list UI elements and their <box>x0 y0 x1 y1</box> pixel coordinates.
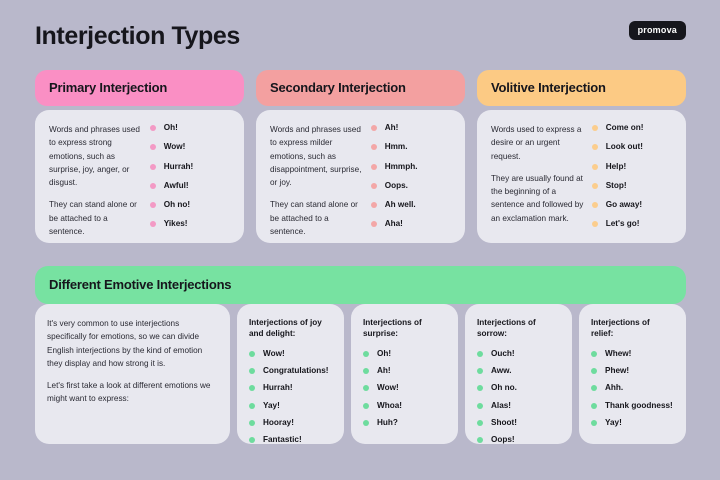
list-item: Thank goodness! <box>591 401 674 411</box>
card-surprise: Interjections of surprise: Oh! Ah! Wow! … <box>351 304 458 444</box>
card-joy-and-delight: Interjections of joy and delight: Wow! C… <box>237 304 344 444</box>
paragraph: Words used to express a desire or an urg… <box>491 123 586 163</box>
examples-volitive: Come on! Look out! Help! Stop! Go away! … <box>592 123 672 229</box>
list-item: Congratulations! <box>249 366 332 376</box>
example-list: Ouch! Aww. Oh no. Alas! Shoot! Oops! <box>477 349 560 446</box>
list-item: Oops. <box>371 181 451 191</box>
card-sorrow: Interjections of sorrow: Ouch! Aww. Oh n… <box>465 304 572 444</box>
list-item: Hmm. <box>371 142 451 152</box>
card-emotive-intro: It's very common to use interjections sp… <box>35 304 230 444</box>
card-header-secondary: Secondary Interjection <box>256 70 465 106</box>
card-secondary-interjection: Secondary Interjection Words and phrases… <box>256 70 465 243</box>
list-item: Fantastic! <box>249 435 332 445</box>
card-header-volitive: Volitive Interjection <box>477 70 686 106</box>
list-item: Awful! <box>150 181 230 191</box>
list-item: Ahh. <box>591 383 674 393</box>
group-title: Interjections of sorrow: <box>477 317 560 340</box>
paragraph: Let's first take a look at different emo… <box>47 379 218 406</box>
description-primary: Words and phrases used to express strong… <box>49 123 144 229</box>
card-body-secondary: Words and phrases used to express milder… <box>256 110 465 243</box>
list-item: Go away! <box>592 200 672 210</box>
list-item: Wow! <box>363 383 446 393</box>
example-list: Oh! Wow! Hurrah! Awful! Oh no! Yikes! <box>150 123 230 230</box>
card-relief: Interjections of relief: Whew! Phew! Ahh… <box>579 304 686 444</box>
paragraph: Words and phrases used to express milder… <box>270 123 365 189</box>
list-item: Hmmph. <box>371 162 451 172</box>
bottom-card-row: It's very common to use interjections sp… <box>35 304 686 444</box>
list-item: Oh no. <box>477 383 560 393</box>
group-title: Interjections of relief: <box>591 317 674 340</box>
list-item: Aha! <box>371 219 451 229</box>
list-item: Ah! <box>371 123 451 133</box>
list-item: Hurrah! <box>150 162 230 172</box>
brand-logo: promova <box>629 21 686 40</box>
example-list: Oh! Ah! Wow! Whoa! Huh? <box>363 349 446 428</box>
list-item: Wow! <box>249 349 332 359</box>
paragraph: It's very common to use interjections sp… <box>47 317 218 370</box>
paragraph: They are usually found at the beginning … <box>491 172 586 225</box>
card-header-primary: Primary Interjection <box>35 70 244 106</box>
example-list: Wow! Congratulations! Hurrah! Yay! Hoora… <box>249 349 332 446</box>
paragraph: They can stand alone or be attached to a… <box>49 198 144 238</box>
list-item: Hooray! <box>249 418 332 428</box>
list-item: Ouch! <box>477 349 560 359</box>
card-volitive-interjection: Volitive Interjection Words used to expr… <box>477 70 686 243</box>
infographic-page: Interjection Types promova Primary Inter… <box>0 0 720 480</box>
group-title: Interjections of surprise: <box>363 317 446 340</box>
examples-secondary: Ah! Hmm. Hmmph. Oops. Ah well. Aha! <box>371 123 451 229</box>
list-item: Let's go! <box>592 219 672 229</box>
list-item: Yay! <box>591 418 674 428</box>
description-secondary: Words and phrases used to express milder… <box>270 123 365 229</box>
list-item: Huh? <box>363 418 446 428</box>
list-item: Oops! <box>477 435 560 445</box>
list-item: Oh no! <box>150 200 230 210</box>
list-item: Alas! <box>477 401 560 411</box>
top-card-row: Primary Interjection Words and phrases u… <box>35 70 686 243</box>
example-list: Come on! Look out! Help! Stop! Go away! … <box>592 123 672 230</box>
list-item: Phew! <box>591 366 674 376</box>
card-primary-interjection: Primary Interjection Words and phrases u… <box>35 70 244 243</box>
card-body-volitive: Words used to express a desire or an urg… <box>477 110 686 243</box>
list-item: Ah well. <box>371 200 451 210</box>
paragraph: They can stand alone or be attached to a… <box>270 198 365 238</box>
list-item: Ah! <box>363 366 446 376</box>
list-item: Help! <box>592 162 672 172</box>
list-item: Stop! <box>592 181 672 191</box>
examples-primary: Oh! Wow! Hurrah! Awful! Oh no! Yikes! <box>150 123 230 229</box>
list-item: Shoot! <box>477 418 560 428</box>
list-item: Wow! <box>150 142 230 152</box>
list-item: Oh! <box>363 349 446 359</box>
example-list: Ah! Hmm. Hmmph. Oops. Ah well. Aha! <box>371 123 451 230</box>
list-item: Yikes! <box>150 219 230 229</box>
list-item: Come on! <box>592 123 672 133</box>
list-item: Oh! <box>150 123 230 133</box>
example-list: Whew! Phew! Ahh. Thank goodness! Yay! <box>591 349 674 428</box>
list-item: Whew! <box>591 349 674 359</box>
paragraph: Words and phrases used to express strong… <box>49 123 144 189</box>
list-item: Aww. <box>477 366 560 376</box>
card-body-primary: Words and phrases used to express strong… <box>35 110 244 243</box>
description-volitive: Words used to express a desire or an urg… <box>491 123 586 229</box>
list-item: Yay! <box>249 401 332 411</box>
page-title: Interjection Types <box>35 22 240 51</box>
group-title: Interjections of joy and delight: <box>249 317 332 340</box>
list-item: Whoa! <box>363 401 446 411</box>
list-item: Hurrah! <box>249 383 332 393</box>
list-item: Look out! <box>592 142 672 152</box>
section-banner-emotive: Different Emotive Interjections <box>35 266 686 304</box>
